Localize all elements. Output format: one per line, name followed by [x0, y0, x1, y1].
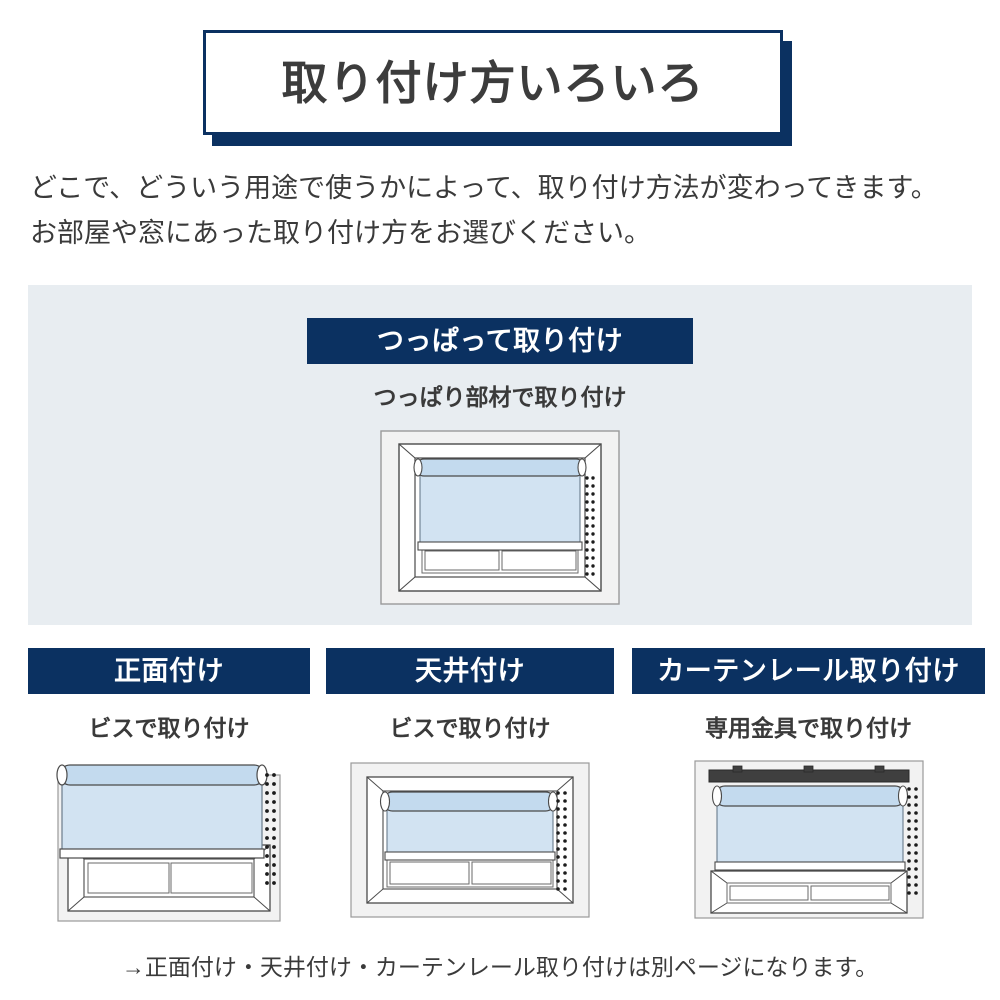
- method-subtitle: ビスで取り付け: [326, 709, 614, 743]
- method-subtitle: ビスで取り付け: [28, 709, 310, 743]
- method-banner-curtain-rail-mount: カーテンレール取り付け: [632, 648, 985, 694]
- method-column-curtain-rail-mount: カーテンレール取り付け 専用金具で取り付け: [632, 648, 985, 925]
- method-columns: 正面付け ビスで取り付け: [0, 648, 1000, 938]
- page-title-block: 取り付け方いろいろ: [203, 30, 783, 135]
- featured-method-panel: つっぱって取り付け つっぱり部材で取り付け: [28, 285, 972, 625]
- method-subtitle: 専用金具で取り付け: [632, 709, 985, 743]
- method-column-face-mount: 正面付け ビスで取り付け: [28, 648, 310, 925]
- ceiling-mount-window-illustration: [339, 753, 601, 925]
- footnote: →正面付け・天井付け・カーテンレール取り付けは別ページになります。: [0, 948, 1000, 982]
- featured-subtitle: つっぱり部材で取り付け: [28, 378, 972, 412]
- method-banner-label: 正面付け: [114, 658, 224, 685]
- method-banner-ceiling-mount: 天井付け: [326, 648, 614, 694]
- method-column-ceiling-mount: 天井付け ビスで取り付け: [326, 648, 614, 925]
- lead-paragraph: どこで、どういう用途で使うかによって、取り付け方法が変わってきます。 お部屋や窓…: [30, 166, 980, 256]
- method-banner-face-mount: 正面付け: [28, 648, 310, 694]
- method-banner-label: 天井付け: [415, 658, 525, 685]
- lead-line-2: お部屋や窓にあった取り付け方をお選びください。: [30, 211, 980, 256]
- curtain-rail-mount-window-illustration: [681, 753, 936, 925]
- lead-line-1: どこで、どういう用途で使うかによって、取り付け方法が変わってきます。: [30, 166, 980, 211]
- page-title: 取り付け方いろいろ: [282, 60, 705, 106]
- method-banner-label: カーテンレール取り付け: [657, 658, 960, 685]
- title-box: 取り付け方いろいろ: [203, 30, 783, 135]
- tension-rod-window-illustration: [380, 430, 620, 605]
- featured-banner: つっぱって取り付け: [307, 318, 693, 364]
- featured-banner-label: つっぱって取り付け: [377, 328, 623, 355]
- face-mount-window-illustration: [38, 753, 300, 925]
